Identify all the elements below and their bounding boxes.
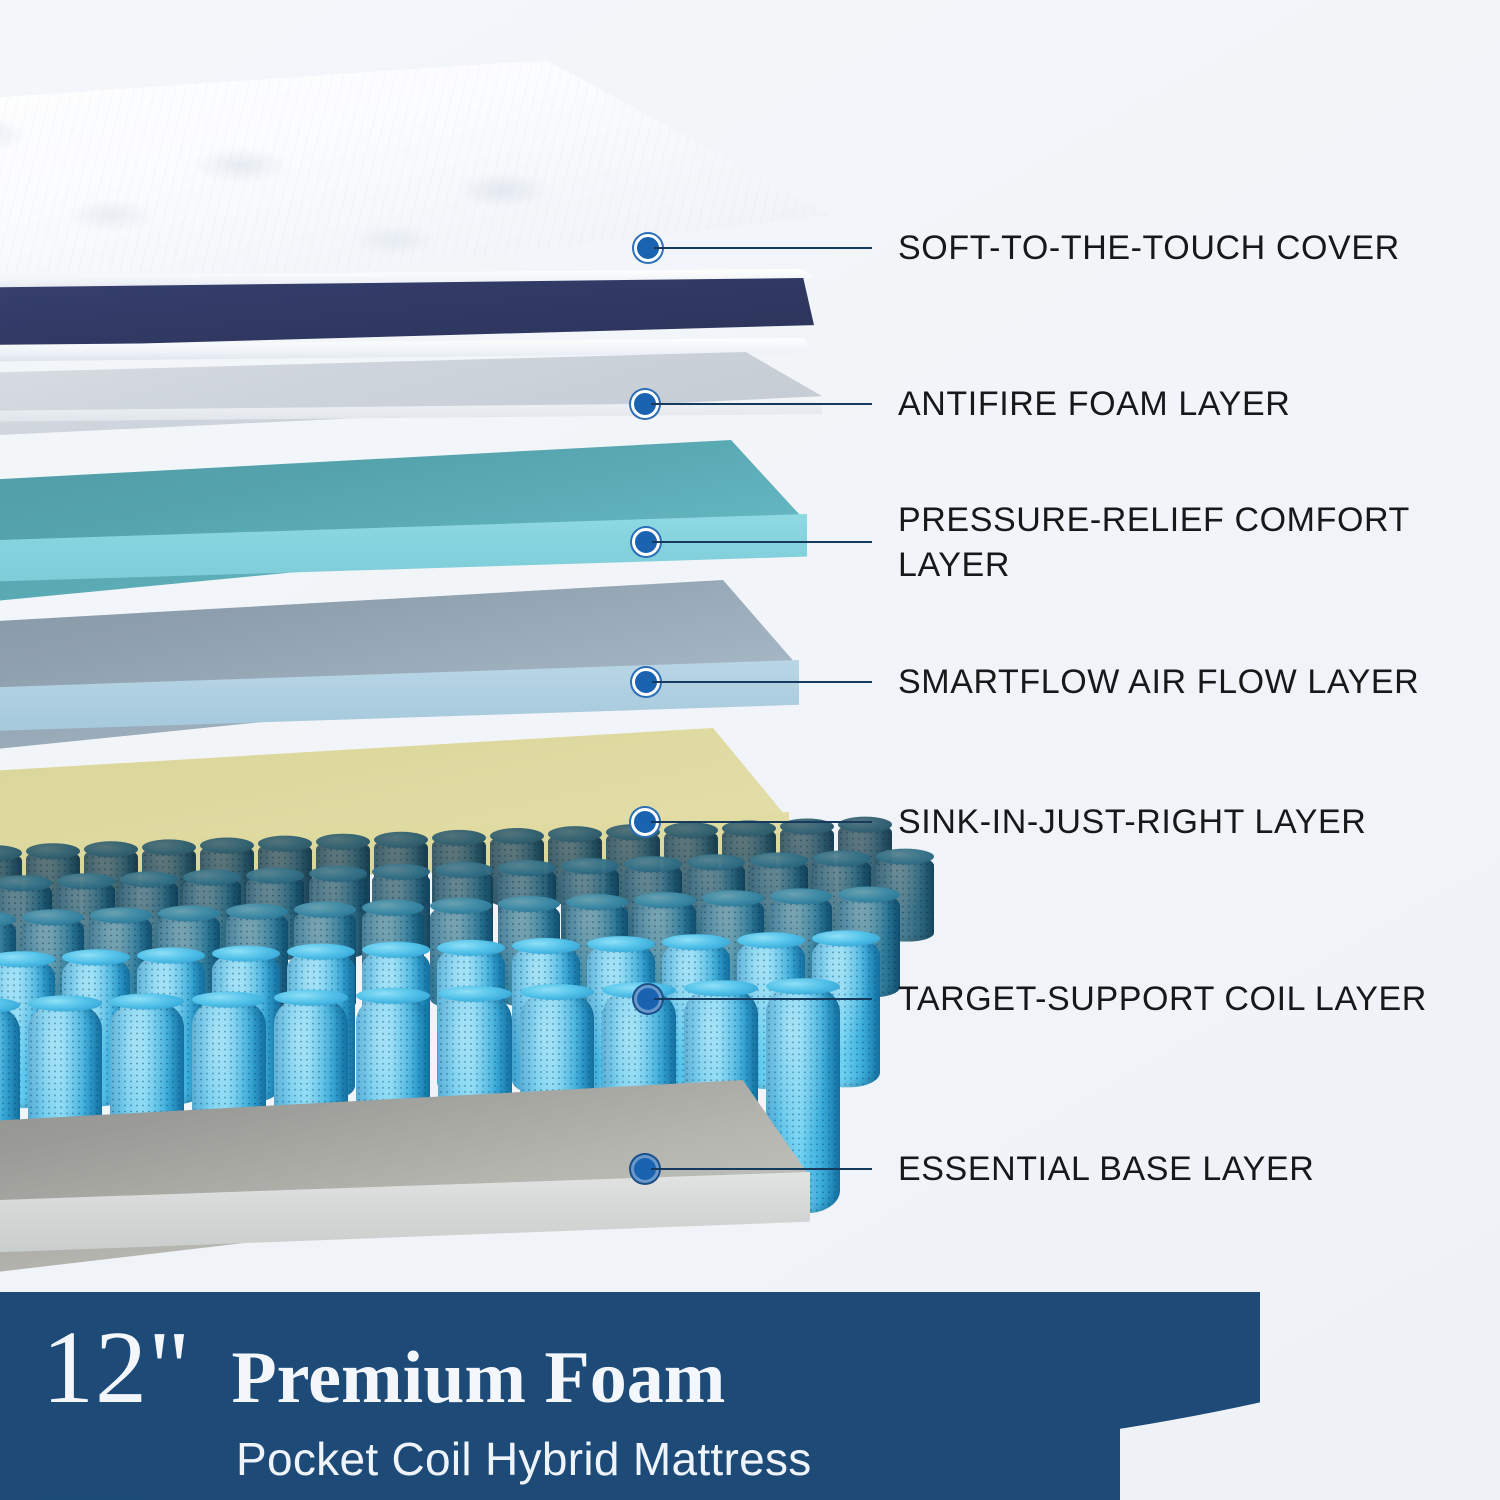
callout-leader-line-cover — [654, 247, 872, 249]
banner-title-row: 12" Premium Foam — [42, 1316, 725, 1420]
callout-leader-line-airflow — [652, 681, 872, 683]
callout-label-airflow: SMARTFLOW AIR FLOW LAYER — [898, 660, 1419, 705]
mattress-height: 12" — [42, 1316, 191, 1420]
antifire-top-face — [0, 352, 822, 444]
callout-label-comfort: PRESSURE-RELIEF COMFORT LAYER — [898, 498, 1410, 588]
callout-leader-line-antifire — [651, 403, 872, 405]
product-title: Premium Foam — [231, 1341, 725, 1415]
product-banner: 12" Premium Foam Pocket Coil Hybrid Matt… — [0, 1292, 1500, 1500]
callout-label-coils: TARGET-SUPPORT COIL LAYER — [898, 977, 1427, 1022]
banner-text-group: 12" Premium Foam Pocket Coil Hybrid Matt… — [0, 1292, 1120, 1500]
layer-antifire-foam — [0, 352, 822, 444]
callout-label-antifire: ANTIFIRE FOAM LAYER — [898, 382, 1290, 427]
callout-label-cover: SOFT-TO-THE-TOUCH COVER — [898, 226, 1400, 271]
callout-leader-line-base — [651, 1168, 872, 1170]
callout-leader-line-sinkin — [651, 821, 872, 823]
product-subtitle: Pocket Coil Hybrid Mattress — [236, 1432, 812, 1486]
product-infographic: SOFT-TO-THE-TOUCH COVERANTIFIRE FOAM LAY… — [0, 0, 1500, 1500]
callout-leader-line-coils — [654, 998, 872, 1000]
callout-label-base: ESSENTIAL BASE LAYER — [898, 1147, 1314, 1192]
callout-label-sinkin: SINK-IN-JUST-RIGHT LAYER — [898, 800, 1366, 845]
layer-essential-base — [0, 1080, 810, 1300]
callout-leader-line-comfort — [652, 541, 872, 543]
